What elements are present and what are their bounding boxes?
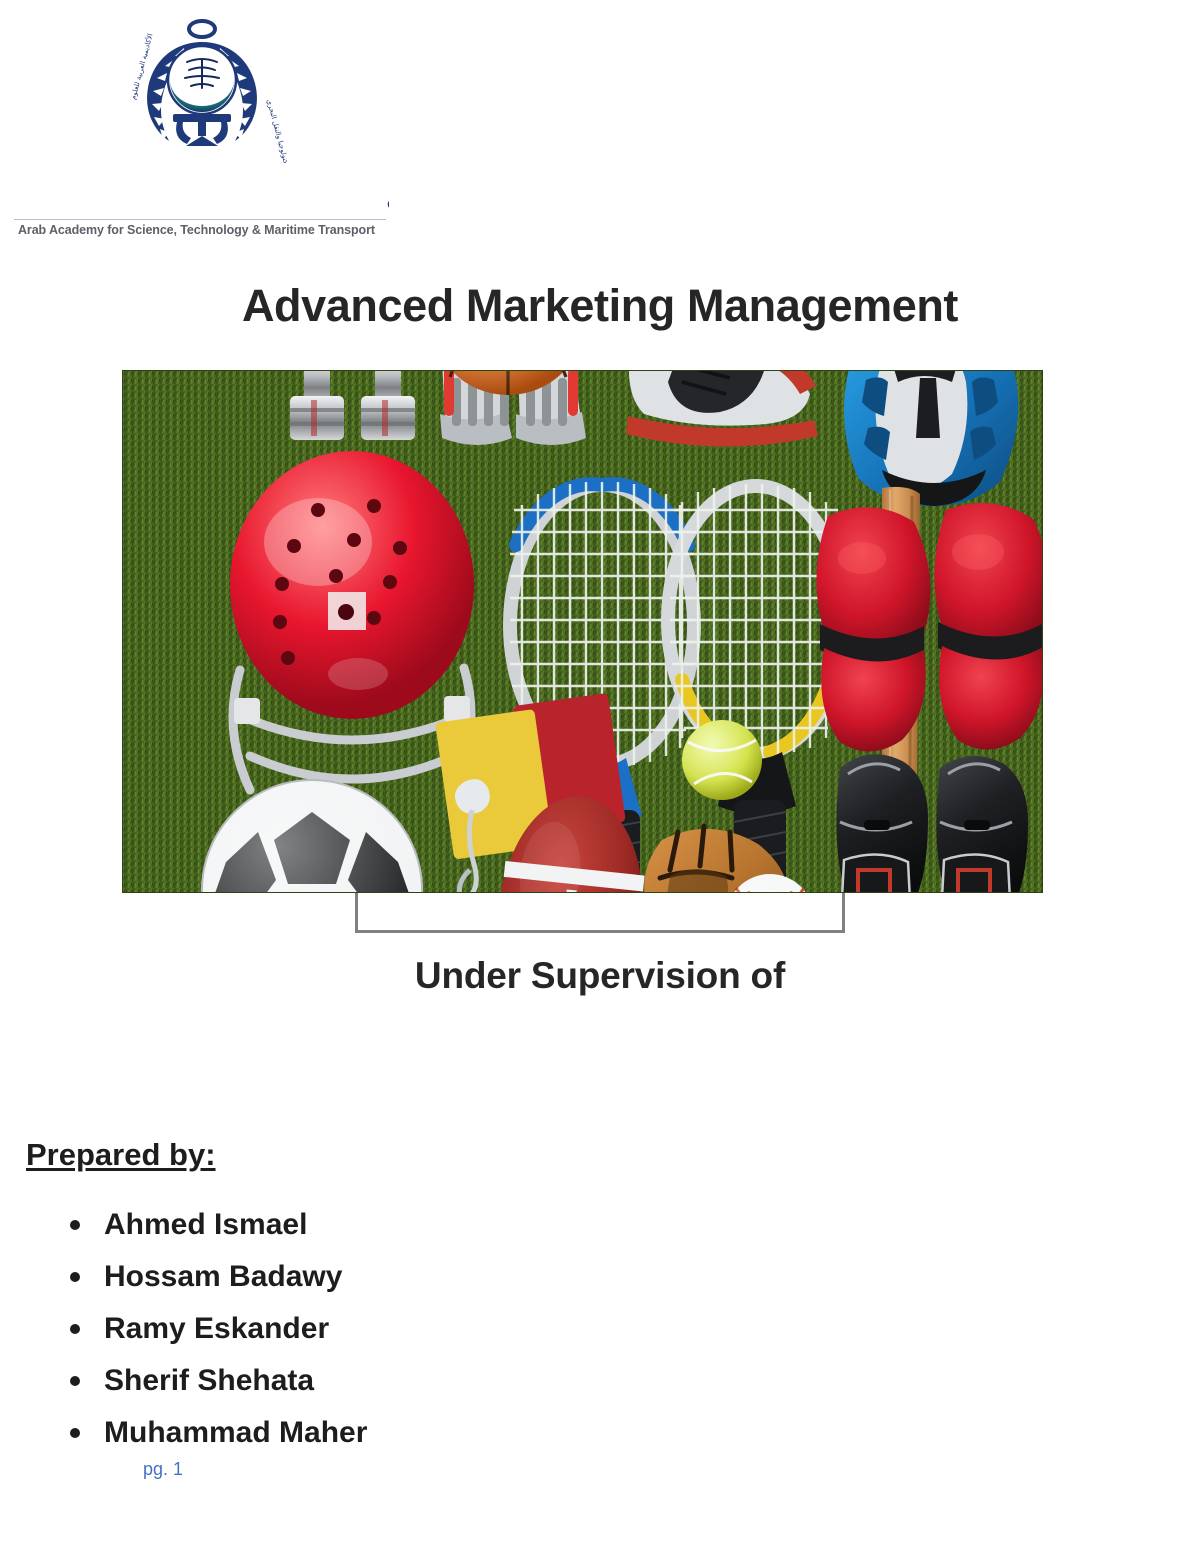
- aastmt-crest-emblem: الأكاديمية العربية للعلوم والتكنولوجيا و…: [117, 18, 287, 163]
- author-name: Muhammad Maher: [104, 1416, 367, 1449]
- svg-text:أكاديمية العربية للعلوم والتكن: أكاديمية العربية للعلوم والتكنولوجيا وال…: [386, 178, 389, 213]
- document-title: Advanced Marketing Management: [0, 280, 1200, 332]
- supervision-heading: Under Supervision of: [0, 955, 1200, 997]
- logo-english-name: Arab Academy for Science, Technology & M…: [18, 223, 389, 237]
- bullet-icon: [70, 1324, 80, 1334]
- bullet-icon: [70, 1376, 80, 1386]
- prepared-by-list: Ahmed Ismael Hossam Badawy Ramy Eskander…: [60, 1199, 760, 1459]
- list-item: Sherif Shehata: [60, 1355, 760, 1407]
- list-item: Ahmed Ismael: [60, 1199, 760, 1251]
- photo-caption-bracket: [355, 893, 845, 933]
- institution-logo: الأكاديمية العربية للعلوم والتكنولوجيا و…: [14, 18, 389, 237]
- logo-divider: [14, 219, 386, 220]
- list-item: Hossam Badawy: [60, 1251, 760, 1303]
- page-number: pg. 1: [143, 1459, 183, 1480]
- basketball-sneaker: [626, 370, 818, 447]
- sports-equipment-on-grass-photo: [122, 370, 1043, 893]
- bullet-icon: [70, 1428, 80, 1438]
- logo-arabic-calligraphy: أكاديمية العربية للعلوم والتكنولوجيا وال…: [14, 175, 389, 217]
- author-name: Ahmed Ismael: [104, 1208, 307, 1241]
- author-name: Hossam Badawy: [104, 1260, 342, 1293]
- list-item: Ramy Eskander: [60, 1303, 760, 1355]
- bullet-icon: [70, 1272, 80, 1282]
- sports-equipment-illustration: [122, 370, 1043, 893]
- bicycle-helmet: [844, 370, 1018, 506]
- logo-arabic-name: أكاديمية العربية للعلوم والتكنولوجيا وال…: [14, 175, 389, 217]
- tennis-ball: [682, 720, 762, 800]
- svg-text:والتكنولوجيا والنقل البحري: والتكنولوجيا والنقل البحري: [265, 98, 287, 163]
- author-name: Sherif Shehata: [104, 1364, 314, 1397]
- list-item: Muhammad Maher: [60, 1407, 760, 1459]
- bullet-icon: [70, 1220, 80, 1230]
- author-name: Ramy Eskander: [104, 1312, 329, 1345]
- prepared-by-heading: Prepared by:: [26, 1137, 216, 1173]
